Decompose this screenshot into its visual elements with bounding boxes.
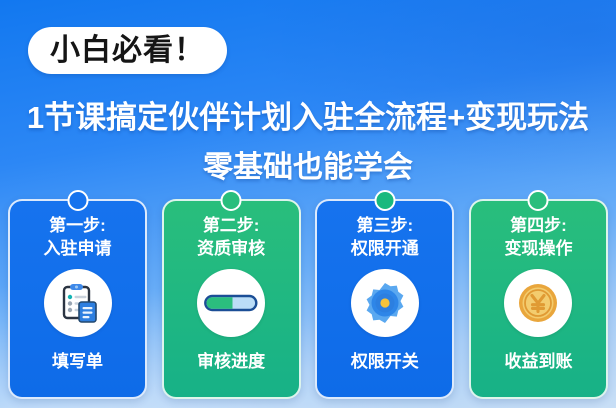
step-title-3: 权限开通 [351,238,419,259]
subheadline-text: 零基础也能学会 [0,142,616,186]
steps-row: 第一步: 入驻申请 [0,199,616,408]
highlight-badge-label: 小白必看！ [50,36,205,66]
step-card-2[interactable]: 第二步: 资质审核 审核进度 [162,199,301,399]
step-number-2: 第二步: [203,215,260,236]
step-notch-icon-1 [67,190,88,211]
yen-coin-icon [515,280,561,326]
step-card-4[interactable]: 第四步: 变现操作 [469,199,608,399]
step-icon-wrap-1 [44,269,112,337]
step-title-2: 资质审核 [197,238,265,259]
step-number-4: 第四步: [510,215,567,236]
step-card-1[interactable]: 第一步: 入驻申请 [8,199,147,399]
progress-bar-icon [204,292,258,314]
step-number-1: 第一步: [49,215,106,236]
promo-poster: 小白必看！ 1节课搞定伙伴计划入驻全流程+变现玩法 零基础也能学会 第一步: 入… [0,0,616,408]
step-card-3[interactable]: 第三步: 权限开通 权限开关 [315,199,454,399]
step-number-3: 第三步: [356,215,413,236]
step-notch-icon-4 [528,190,549,211]
step-icon-wrap-3 [351,269,419,337]
step-icon-wrap-4 [504,269,572,337]
step-icon-wrap-2 [197,269,265,337]
headline-text: 1节课搞定伙伴计划入驻全流程+变现玩法 [0,92,616,137]
highlight-badge: 小白必看！ [28,27,227,74]
gear-icon [361,279,409,327]
step-label-4: 收益到账 [504,347,572,372]
clipboard-checklist-icon [55,280,101,326]
step-label-1: 填写单 [52,347,103,372]
step-label-2: 审核进度 [197,347,265,372]
step-label-3: 权限开关 [351,347,419,372]
step-title-4: 变现操作 [504,238,572,259]
step-title-1: 入驻申请 [44,238,112,259]
step-notch-icon-3 [374,190,395,211]
step-notch-icon-2 [221,190,242,211]
